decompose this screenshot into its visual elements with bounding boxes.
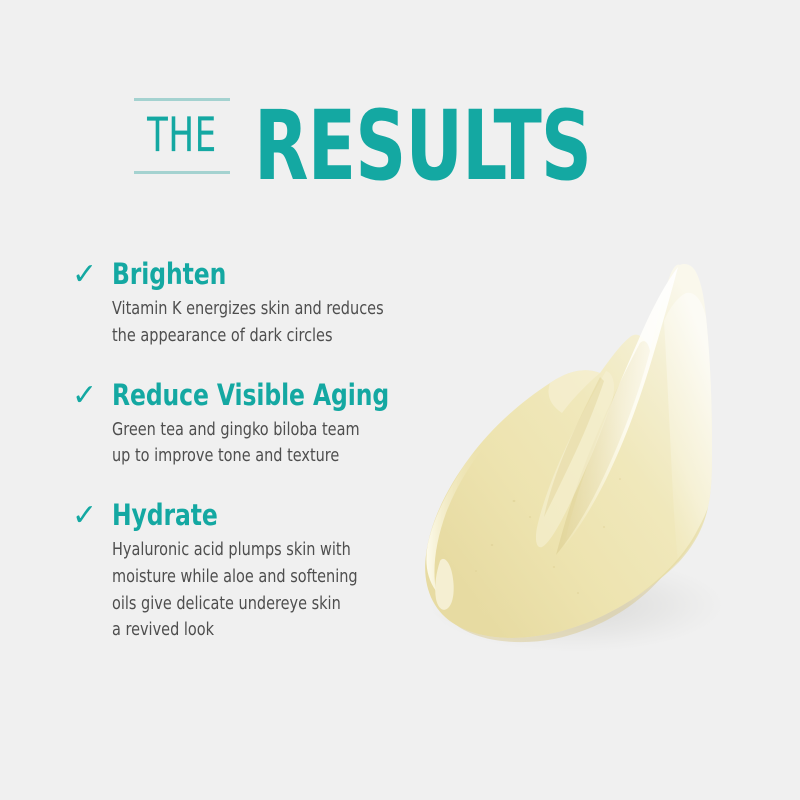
benefits-list: ✓ Brighten Vitamin K energizes skin and … xyxy=(72,258,462,644)
cream-speckles xyxy=(475,478,621,594)
cream-swatch-image xyxy=(418,255,748,655)
check-icon: ✓ xyxy=(72,379,112,413)
check-icon: ✓ xyxy=(72,499,112,533)
benefit-description: Green tea and gingko biloba team up to i… xyxy=(112,417,434,470)
cream-swatch-graphic xyxy=(418,255,748,655)
benefit-body: Reduce Visible Aging Green tea and gingk… xyxy=(112,379,462,471)
cream-body xyxy=(418,264,718,655)
title-eyebrow: THE xyxy=(144,101,221,171)
benefit-item-hydrate: ✓ Hydrate Hyaluronic acid plumps skin wi… xyxy=(72,499,462,644)
cream-shadow xyxy=(426,557,726,653)
results-panel: THE RESULTS ✓ Brighten Vitamin K energiz… xyxy=(0,0,800,800)
title-eyebrow-group: THE xyxy=(134,88,230,184)
benefit-item-brighten: ✓ Brighten Vitamin K energizes skin and … xyxy=(72,258,462,350)
benefit-description: Vitamin K energizes skin and reduces the… xyxy=(112,296,434,349)
title-rule-bottom xyxy=(134,171,230,174)
title-main: RESULTS xyxy=(254,104,591,188)
benefit-item-reduce-visible-aging: ✓ Reduce Visible Aging Green tea and gin… xyxy=(72,379,462,471)
benefit-title: Hydrate xyxy=(112,500,427,531)
benefit-description: Hyaluronic acid plumps skin with moistur… xyxy=(112,537,434,643)
check-icon: ✓ xyxy=(72,258,112,292)
page-title: THE RESULTS xyxy=(0,82,800,190)
benefit-body: Brighten Vitamin K energizes skin and re… xyxy=(112,258,462,350)
benefit-title: Brighten xyxy=(112,259,427,290)
benefit-body: Hydrate Hyaluronic acid plumps skin with… xyxy=(112,499,462,644)
benefit-title: Reduce Visible Aging xyxy=(112,380,427,411)
